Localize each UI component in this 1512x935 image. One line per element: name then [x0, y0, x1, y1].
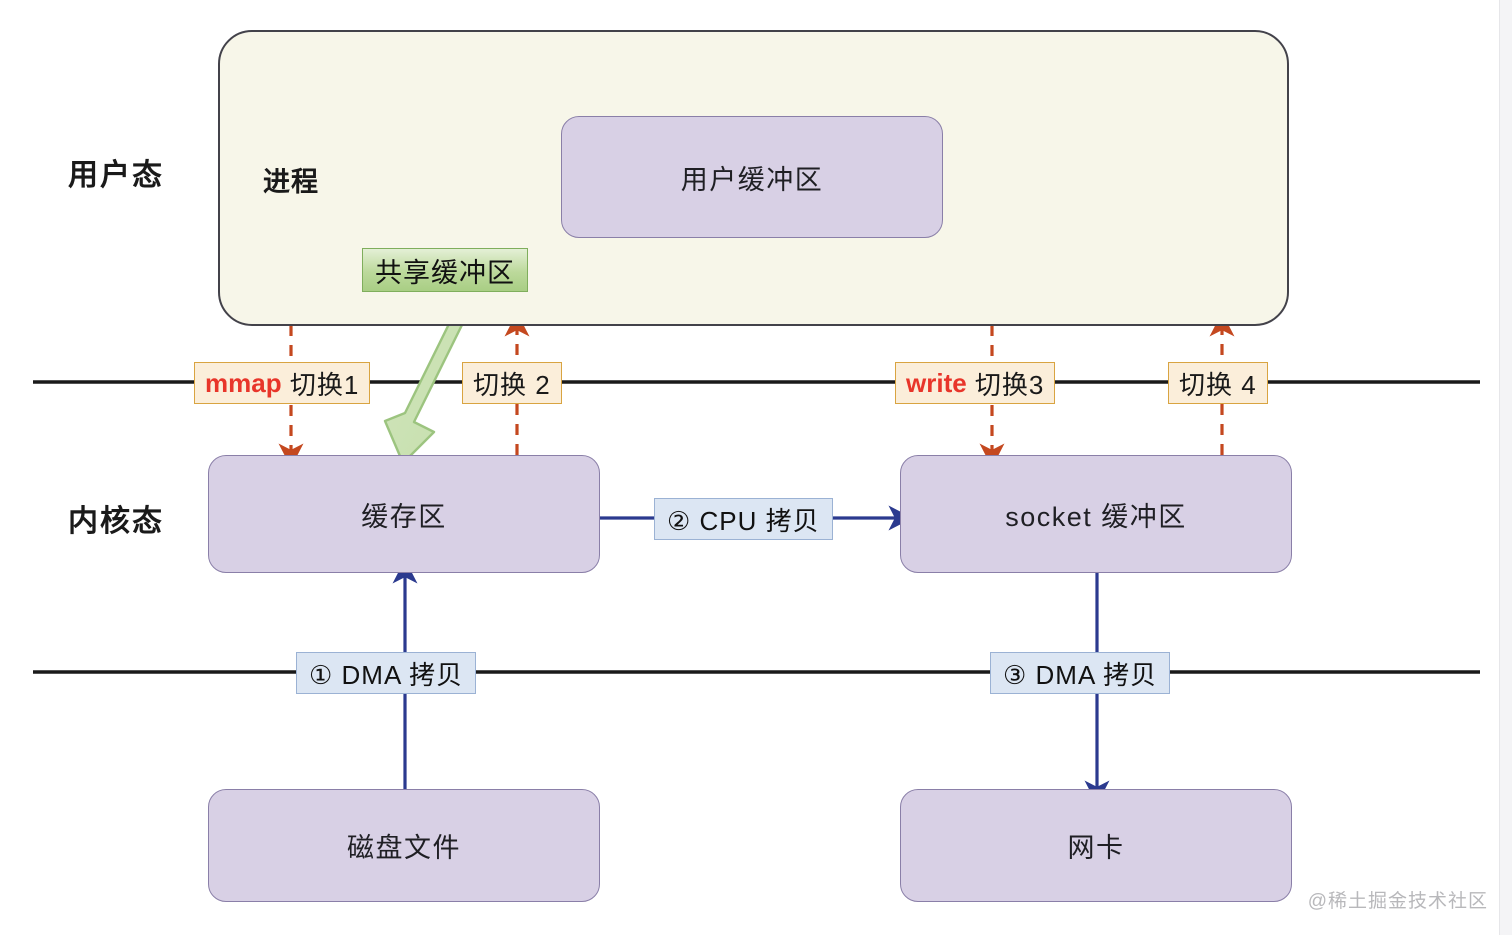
switch-label-2[interactable]: 切换 2 [462, 362, 562, 404]
watermark: @稀土掘金技术社区 [1308, 886, 1488, 913]
switch-text-3: 切换3 [975, 365, 1044, 402]
process-label: 进程 [263, 160, 319, 199]
switch-label-3[interactable]: write 切换3 [895, 362, 1055, 404]
diagram-canvas: 用户态 内核态 进程 用户缓冲区 缓存区 socket 缓冲区 磁盘文件 网卡 … [0, 0, 1512, 935]
shared-buffer-label[interactable]: 共享缓冲区 [362, 248, 528, 292]
switch-text-4: 切换 4 [1179, 365, 1257, 402]
copy-label-cpu-2[interactable]: ② CPU 拷贝 [654, 498, 833, 540]
copy-label-dma-1[interactable]: ① DMA 拷贝 [296, 652, 476, 694]
switch-label-4[interactable]: 切换 4 [1168, 362, 1268, 404]
right-scrollbar-gutter[interactable] [1499, 0, 1512, 935]
box-nic[interactable]: 网卡 [900, 789, 1292, 902]
side-label-kernel-mode: 内核态 [46, 496, 186, 540]
box-page-cache[interactable]: 缓存区 [208, 455, 600, 573]
switch-keyword-write: write [906, 368, 967, 399]
box-disk-file[interactable]: 磁盘文件 [208, 789, 600, 902]
side-label-user-mode: 用户态 [46, 150, 186, 194]
switch-label-1[interactable]: mmap 切换1 [194, 362, 370, 404]
box-socket-buffer[interactable]: socket 缓冲区 [900, 455, 1292, 573]
box-user-buffer[interactable]: 用户缓冲区 [561, 116, 943, 238]
switch-text-2: 切换 2 [473, 365, 551, 402]
copy-label-dma-3[interactable]: ③ DMA 拷贝 [990, 652, 1170, 694]
switch-keyword-mmap: mmap [205, 368, 282, 399]
switch-text-1: 切换1 [290, 365, 359, 402]
